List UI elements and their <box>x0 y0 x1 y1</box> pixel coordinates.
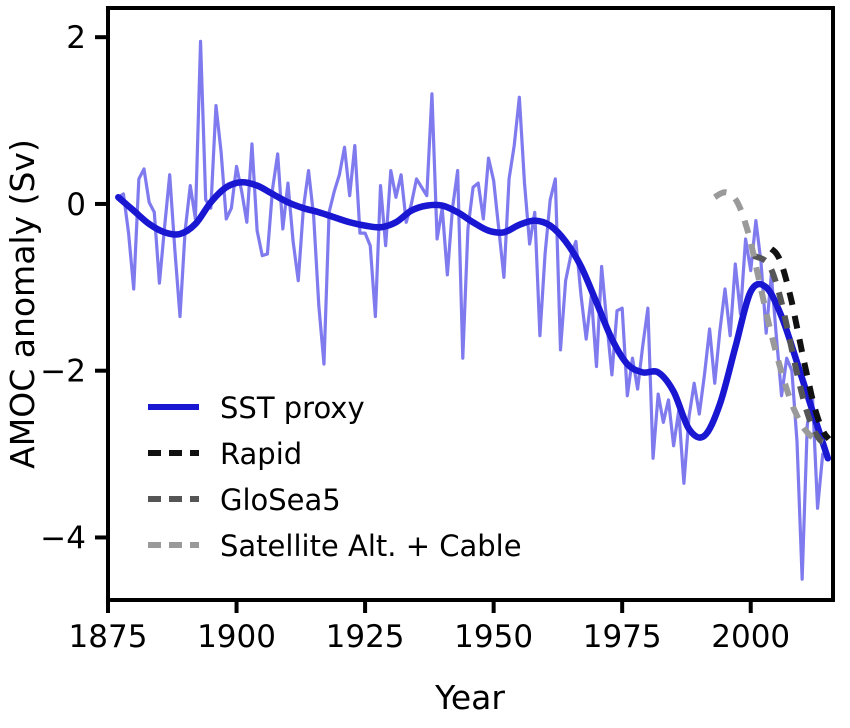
y-axis-label: AMOC anomaly (Sv) <box>3 139 42 469</box>
x-tick-label-1900: 1900 <box>197 619 276 655</box>
x-tick-label-1950: 1950 <box>454 619 533 655</box>
legend-label-satellite-alt-cable: Satellite Alt. + Cable <box>220 529 522 563</box>
x-tick-label-1975: 1975 <box>583 619 662 655</box>
x-tick-label-1925: 1925 <box>326 619 405 655</box>
y-tick-label--4: −4 <box>40 520 86 556</box>
x-tick-label-1875: 1875 <box>69 619 148 655</box>
legend-label-glosea5: GloSea5 <box>220 483 341 517</box>
y-tick-label-0: 0 <box>66 187 86 223</box>
x-tick-label-2000: 2000 <box>711 619 790 655</box>
legend-label-rapid: Rapid <box>220 437 302 471</box>
y-tick-label-2: 2 <box>66 20 86 56</box>
y-tick-label--2: −2 <box>40 354 86 390</box>
legend-label-sst-proxy: SST proxy <box>220 391 365 425</box>
amoc-anomaly-chart: 187519001925195019752000 20−2−4 Year AMO… <box>0 0 850 728</box>
x-axis-label: Year <box>434 678 505 717</box>
chart-figure: 187519001925195019752000 20−2−4 Year AMO… <box>0 0 850 728</box>
